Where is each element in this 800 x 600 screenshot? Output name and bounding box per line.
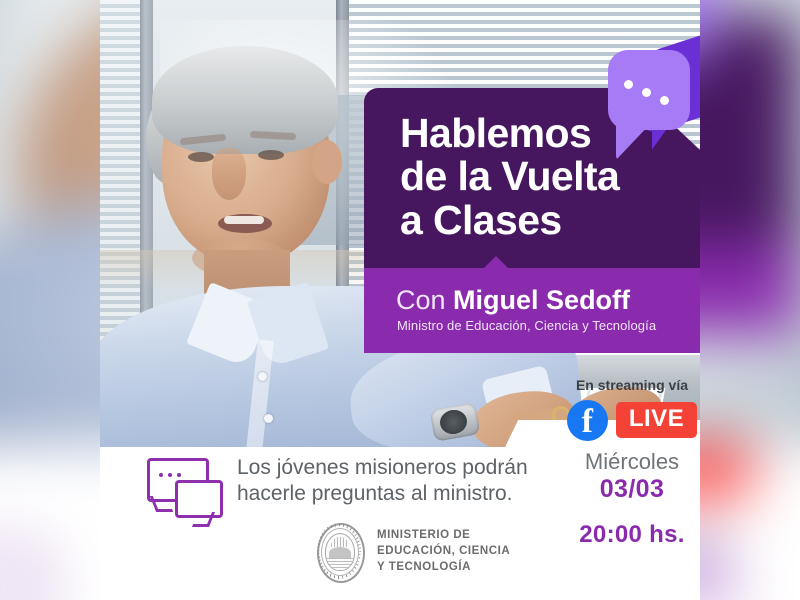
facebook-icon[interactable]: f <box>567 400 608 441</box>
event-day-name: Miércoles <box>552 450 700 475</box>
bubble-dot-3 <box>660 96 669 105</box>
ministry-line-3: Y TECNOLOGÍA <box>377 559 510 575</box>
eye-right <box>258 150 284 160</box>
ministry-name: MINISTERIO DE EDUCACIÓN, CIENCIA Y TECNO… <box>377 527 510 576</box>
facebook-glyph: f <box>567 400 608 441</box>
audience-note: Los jóvenes misioneros podrán hacerle pr… <box>145 455 565 520</box>
event-day-number: 03/03 <box>552 475 700 504</box>
background-chat-icon-blur <box>0 546 45 600</box>
poster-canvas: Hablemos de la Vuelta a Clases Con Migue… <box>0 0 800 600</box>
audience-note-text: Los jóvenes misioneros podrán hacerle pr… <box>237 455 528 508</box>
title-line-2: de la Vuelta <box>400 155 700 198</box>
coat-of-arms-icon <box>315 521 363 581</box>
bubble-dot-2 <box>642 88 651 97</box>
shirt-button-2 <box>264 414 273 423</box>
host-name: Miguel Sedoff <box>453 285 630 315</box>
crest-sun <box>331 537 349 547</box>
ministry-line-1: MINISTERIO DE <box>377 527 510 543</box>
ear <box>312 140 342 184</box>
streaming-label: En streaming vía <box>557 377 700 393</box>
hair-top <box>152 46 338 154</box>
shirt-button-1 <box>258 372 267 381</box>
event-time: 20:00 hs. <box>552 521 700 549</box>
nose <box>212 148 246 200</box>
streaming-row: f LIVE <box>557 398 700 442</box>
ministry-logo: MINISTERIO DE EDUCACIÓN, CIENCIA Y TECNO… <box>315 521 510 581</box>
eye-left <box>188 152 214 162</box>
ministry-line-2: EDUCACIÓN, CIENCIA <box>377 543 510 559</box>
crest-water <box>326 558 354 570</box>
host-line: Con Miguel Sedoff <box>396 286 700 316</box>
chat-bubble-3d-icon <box>600 28 700 148</box>
teeth <box>224 216 264 224</box>
chat-bubble-mask-2 <box>194 510 207 515</box>
chat-bubbles-icon <box>145 458 219 520</box>
live-badge: LIVE <box>616 402 697 437</box>
chat-bubble-mask-1 <box>156 494 169 499</box>
host-prefix: Con <box>396 285 453 315</box>
crest-shield <box>325 533 355 571</box>
note-line-1: Los jóvenes misioneros podrán <box>237 455 528 481</box>
event-date-block: Miércoles 03/03 20:00 hs. <box>552 450 700 549</box>
bubble-dot-1 <box>624 80 633 89</box>
title-line-3: a Clases <box>400 199 700 242</box>
chat-bubble-dots <box>159 473 181 477</box>
poster-main: Hablemos de la Vuelta a Clases Con Migue… <box>100 0 700 600</box>
note-line-2: hacerle preguntas al ministro. <box>237 481 528 507</box>
host-role: Ministro de Educación, Ciencia y Tecnolo… <box>397 318 700 333</box>
